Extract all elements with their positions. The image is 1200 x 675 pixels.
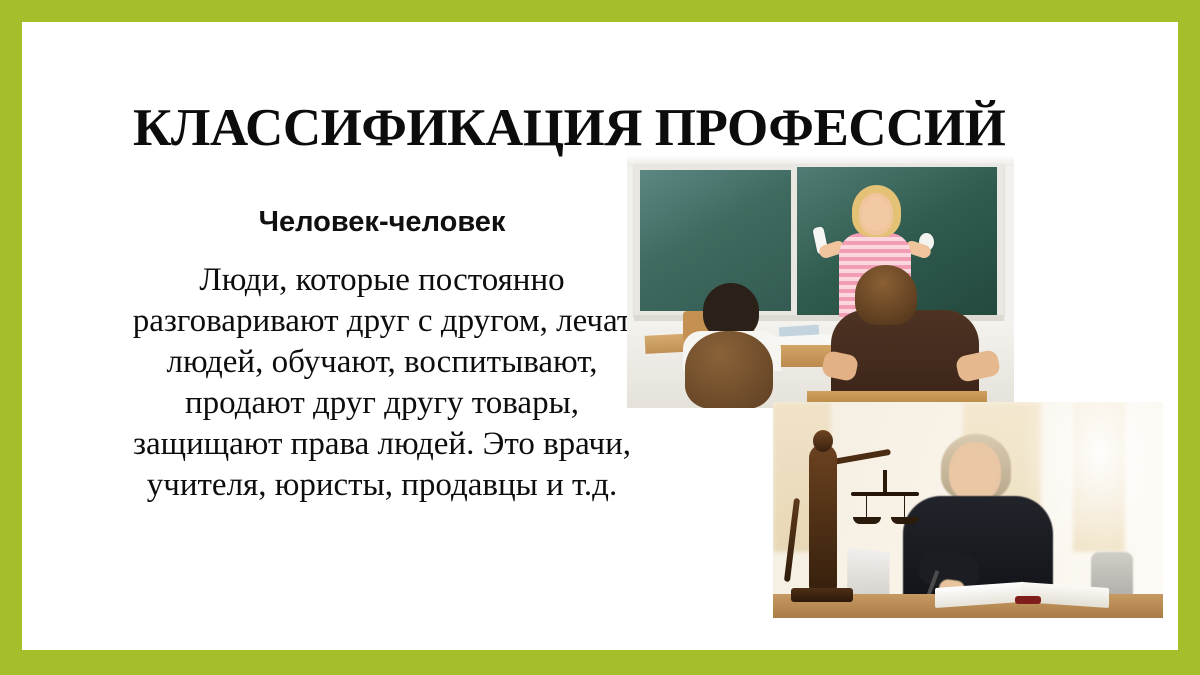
page-title: КЛАССИФИКАЦИЯ ПРОФЕССИЙ <box>133 101 1083 157</box>
slide: КЛАССИФИКАЦИЯ ПРОФЕССИЙ Человек-человек … <box>0 0 1200 675</box>
classroom-photo <box>627 155 1014 408</box>
body-text: Люди, которые постоянно разговаривают др… <box>128 260 636 506</box>
subheading: Человек-человек <box>128 204 636 240</box>
scales-beam <box>851 492 919 496</box>
justice-statue-body <box>809 444 837 592</box>
lawyer-photo <box>773 402 1163 618</box>
scales-pan-right <box>891 517 919 524</box>
justice-statue-arm <box>831 449 891 465</box>
text-column: Человек-человек Люди, которые постоянно … <box>128 204 636 506</box>
student-right-head <box>855 265 917 325</box>
open-book-spine <box>1015 596 1041 604</box>
scales-string-right <box>904 494 905 518</box>
justice-statue-head <box>813 430 833 452</box>
student-front-head <box>685 331 773 408</box>
teacher-face <box>862 197 890 231</box>
scales-pan-left <box>853 517 881 524</box>
slide-canvas: КЛАССИФИКАЦИЯ ПРОФЕССИЙ Человек-человек … <box>22 22 1178 650</box>
scales-string-left <box>866 494 867 518</box>
lawyer-face <box>953 452 995 500</box>
justice-statue-base <box>791 588 853 602</box>
